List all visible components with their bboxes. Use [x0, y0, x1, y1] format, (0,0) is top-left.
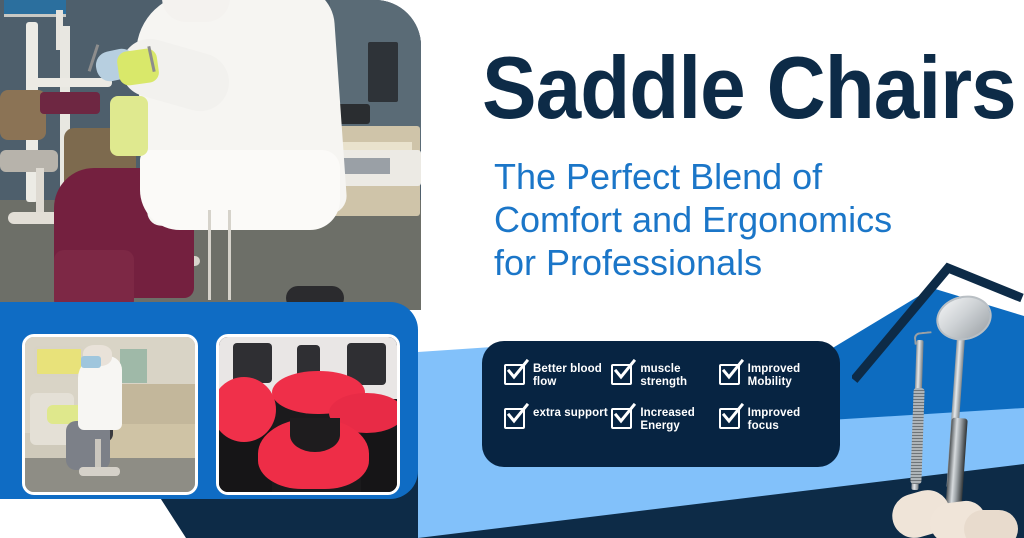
checkbox-checked-icon — [504, 408, 525, 429]
page-subtitle: The Perfect Blend of Comfort and Ergonom… — [494, 155, 994, 284]
benefit-label: extra support — [533, 407, 608, 420]
dental-tools-photo — [852, 270, 1024, 538]
checkbox-checked-icon — [611, 408, 632, 429]
saddle-chairs-promo-banner: Saddle Chairs The Perfect Blend of Comfo… — [0, 0, 1024, 538]
checkbox-checked-icon — [719, 408, 740, 429]
benefits-grid: Better blood flow muscle strength Improv… — [504, 363, 826, 451]
benefit-item: Improved focus — [719, 407, 826, 451]
hero-photo-dental-professional — [0, 0, 421, 310]
benefit-item: Better blood flow — [504, 363, 611, 407]
benefit-item: muscle strength — [611, 363, 718, 407]
thumbnail-clinician-on-stool — [22, 334, 198, 495]
dental-mirror-icon — [932, 290, 997, 346]
benefit-label: Better blood flow — [533, 363, 611, 388]
benefit-item: extra support — [504, 407, 611, 451]
benefit-item: Improved Mobility — [719, 363, 826, 407]
benefit-item: Increased Energy — [611, 407, 718, 451]
subtitle-line-1: The Perfect Blend of — [494, 155, 994, 198]
checkbox-checked-icon — [719, 364, 740, 385]
thumbnail-red-saddle-chairs — [216, 334, 400, 495]
benefit-label: Improved Mobility — [748, 363, 826, 388]
page-title: Saddle Chairs — [482, 44, 966, 132]
benefit-label: muscle strength — [640, 363, 718, 388]
probe-handle — [910, 388, 924, 484]
subtitle-line-2: Comfort and Ergonomics — [494, 198, 994, 241]
benefit-label: Improved focus — [748, 407, 826, 432]
benefits-panel: Better blood flow muscle strength Improv… — [482, 341, 840, 467]
checkbox-checked-icon — [611, 364, 632, 385]
checkbox-checked-icon — [504, 364, 525, 385]
photo-collage-card — [0, 302, 418, 499]
gloved-finger — [964, 510, 1018, 538]
benefit-label: Increased Energy — [640, 407, 718, 432]
